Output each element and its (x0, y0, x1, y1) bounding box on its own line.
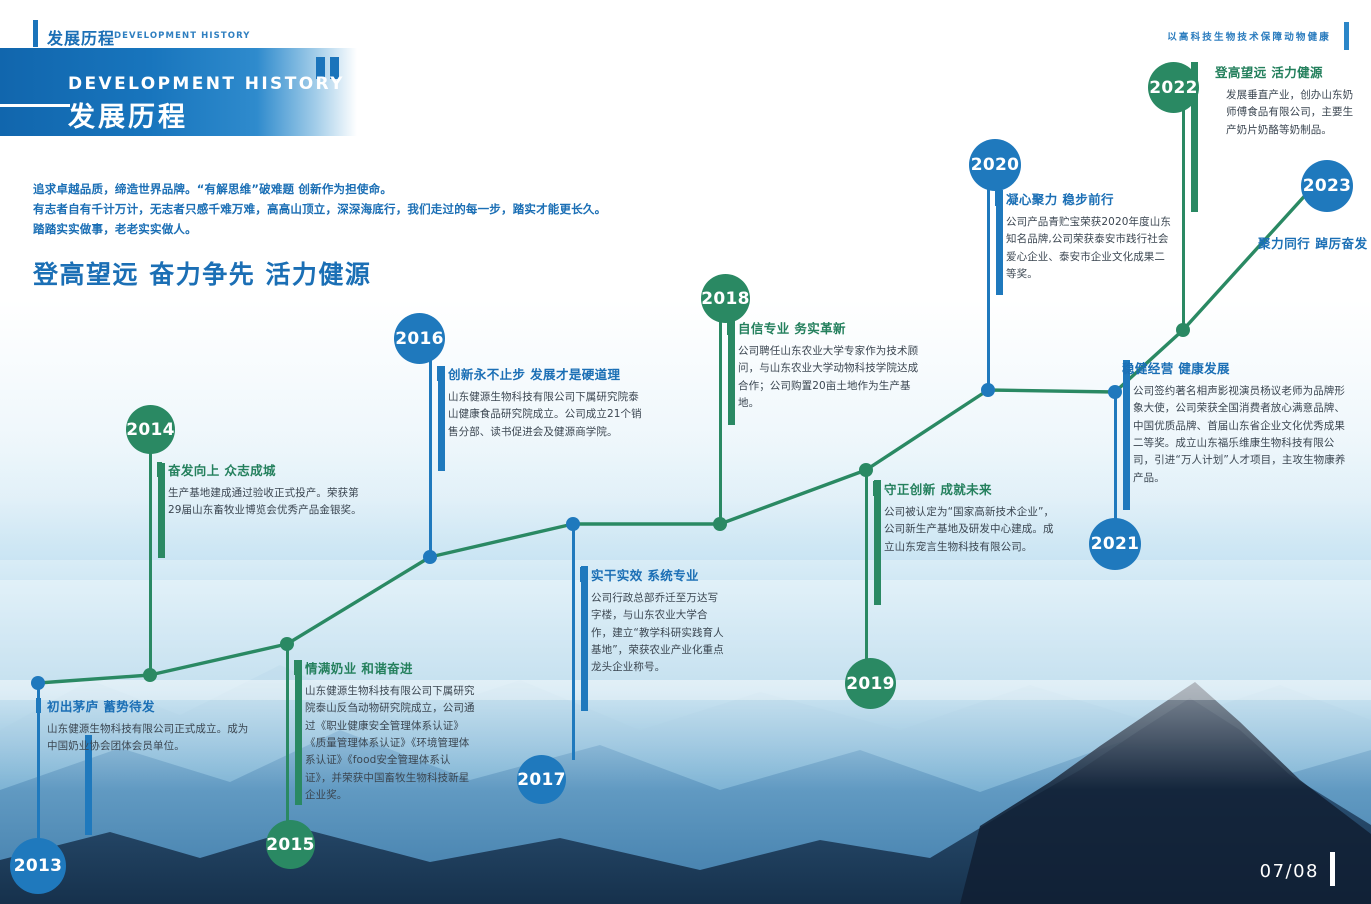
event-card-2015[interactable]: 情满奶业 和谐奋进 山东健源生物科技有限公司下属研究院泰山反刍动物研究院成立，公… (294, 658, 477, 804)
card-accent-bar (36, 698, 41, 713)
event-card-2017[interactable]: 实干实效 系统专业 公司行政总部乔迁至万达写字楼，与山东农业大学合作，建立“教学… (580, 565, 725, 677)
card-accent-bar (995, 191, 1000, 206)
event-title-2017: 实干实效 系统专业 (591, 565, 725, 584)
event-body-2020: 公司产品青贮宝荣获2020年度山东知名品牌,公司荣获泰安市践行社会爱心企业、泰安… (1006, 214, 1175, 283)
event-title-2014: 奋发向上 众志成城 (168, 460, 369, 479)
year-bubble-2017[interactable]: 2017 (517, 755, 566, 804)
card-accent-bar (727, 320, 732, 335)
event-title-2013: 初出茅庐 蓄势待发 (47, 696, 251, 715)
event-body-2021: 公司签约著名相声影视演员杨议老师为品牌形象大使，公司荣获全国消费者放心满意品牌、… (1133, 383, 1354, 487)
stem-2022 (1182, 105, 1185, 330)
event-card-2020[interactable]: 凝心聚力 稳步前行 公司产品青贮宝荣获2020年度山东知名品牌,公司荣获泰安市践… (995, 189, 1175, 283)
year-bubble-2013[interactable]: 2013 (10, 838, 66, 894)
stem-2016 (429, 352, 432, 557)
card-accent-bar (873, 481, 878, 496)
year-bubble-2014[interactable]: 2014 (126, 405, 175, 454)
event-title-2019: 守正创新 成就未来 (884, 479, 1063, 498)
event-card-2022[interactable]: 登高望远 活力健源 发展垂直产业，创办山东奶师傅食品有限公司，主要生产奶片奶酪等… (1215, 62, 1363, 139)
event-body-2017: 公司行政总部乔迁至万达写字楼，与山东农业大学合作，建立“教学科研实践育人基地”，… (591, 590, 725, 677)
event-title-2015: 情满奶业 和谐奋进 (305, 658, 477, 677)
page-number: 07/08 (1260, 861, 1319, 882)
year-bubble-2016[interactable]: 2016 (394, 313, 445, 364)
event-card-2021[interactable]: 稳健经营 健康发展 公司签约著名相声影视演员杨议老师为品牌形象大使，公司荣获全国… (1122, 358, 1354, 487)
stem-2015 (286, 644, 289, 844)
year-bubble-2018[interactable]: 2018 (701, 274, 750, 323)
event-body-2015: 山东健源生物科技有限公司下属研究院泰山反刍动物研究院成立，公司通过《职业健康安全… (305, 683, 477, 804)
event-body-2014: 生产基地建成通过验收正式投产。荣获第29届山东畜牧业博览会优秀产品金银奖。 (168, 485, 369, 520)
event-title-2021: 稳健经营 健康发展 (1122, 358, 1354, 377)
event-title-2016: 创新永不止步 发展才是硬道理 (448, 364, 644, 383)
event-card-2019[interactable]: 守正创新 成就未来 公司被认定为“国家高新技术企业”，公司新生产基地及研发中心建… (873, 479, 1063, 556)
event-title-2018: 自信专业 务实革新 (738, 318, 920, 337)
event-body-2018: 公司聘任山东农业大学专家作为技术顾问，与山东农业大学动物科技学院达成合作；公司购… (738, 343, 920, 412)
stem-2014 (149, 450, 152, 675)
event-title-2023: 聚力同行 踔厉奋发 (1258, 233, 1368, 252)
event-card-2013[interactable]: 初出茅庐 蓄势待发 山东健源生物科技有限公司正式成立。成为中国奶业协会团体会员单… (36, 696, 251, 756)
card-accent-bar (580, 567, 585, 582)
event-body-2013: 山东健源生物科技有限公司正式成立。成为中国奶业协会团体会员单位。 (47, 721, 251, 756)
year-bubble-2015[interactable]: 2015 (266, 820, 315, 869)
card-accent-bar (437, 366, 442, 381)
stem-2020 (987, 182, 990, 390)
stem-2019 (865, 470, 868, 660)
event-card-2014[interactable]: 奋发向上 众志成城 生产基地建成通过验收正式投产。荣获第29届山东畜牧业博览会优… (157, 460, 369, 520)
event-body-2022: 发展垂直产业，创办山东奶师傅食品有限公司，主要生产奶片奶酪等奶制品。 (1226, 87, 1363, 139)
page-number-bar (1330, 852, 1335, 886)
year-bubble-2021[interactable]: 2021 (1089, 518, 1141, 570)
event-card-2016[interactable]: 创新永不止步 发展才是硬道理 山东健源生物科技有限公司下属研究院泰山健康食品研究… (437, 364, 644, 441)
year-bubble-2020[interactable]: 2020 (969, 139, 1021, 191)
year-bubble-2022[interactable]: 2022 (1148, 62, 1199, 113)
stem-2017 (572, 524, 575, 760)
card-accent-bar (157, 462, 162, 477)
year-bubble-2019[interactable]: 2019 (845, 658, 896, 709)
event-body-2019: 公司被认定为“国家高新技术企业”，公司新生产基地及研发中心建成。成立山东宠言生物… (884, 504, 1063, 556)
event-body-2016: 山东健源生物科技有限公司下属研究院泰山健康食品研究院成立。公司成立21个销售分部… (448, 389, 644, 441)
event-title-2022: 登高望远 活力健源 (1215, 62, 1363, 81)
event-card-2018[interactable]: 自信专业 务实革新 公司聘任山东农业大学专家作为技术顾问，与山东农业大学动物科技… (727, 318, 920, 412)
banner-rule (0, 104, 70, 107)
poster-canvas: 发展历程 DEVELOPMENT HISTORY 以高科技生物技术保障动物健康 … (0, 0, 1371, 904)
year-bubble-2023[interactable]: 2023 (1301, 160, 1353, 212)
event-title-2020: 凝心聚力 稳步前行 (1006, 189, 1175, 208)
banner-en-title: DEVELOPMENT HISTORY (68, 74, 345, 94)
banner-cn-title: 发展历程 (68, 95, 188, 134)
stem-2018 (719, 308, 722, 524)
card-accent-bar (294, 660, 299, 675)
